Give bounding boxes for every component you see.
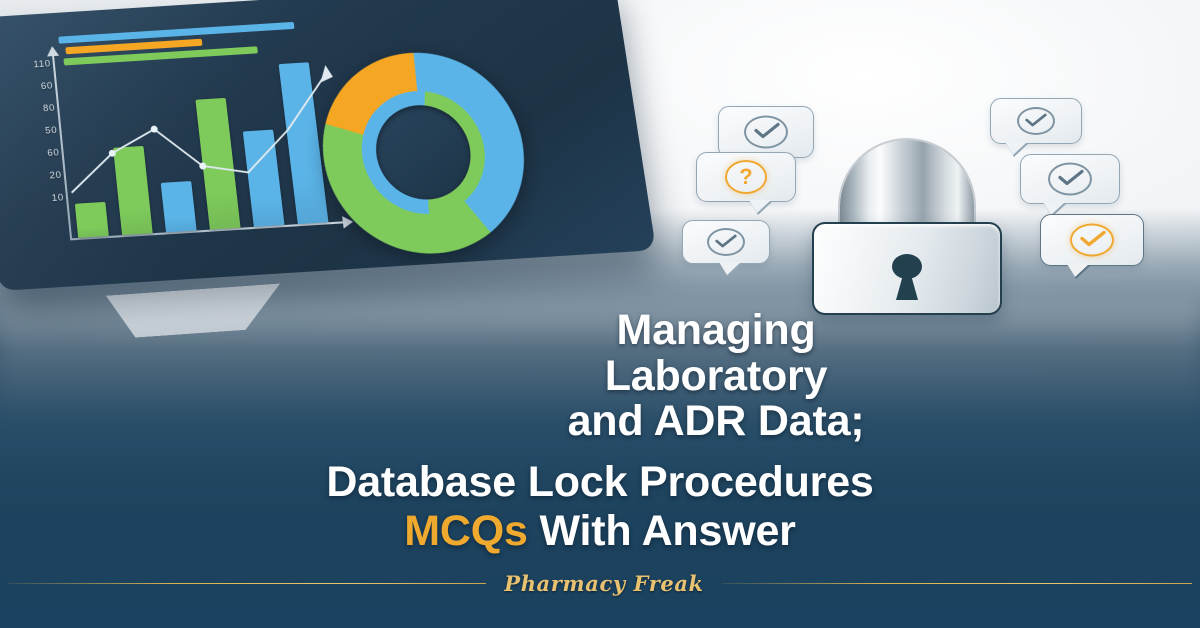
- check-glyph: [1058, 170, 1084, 186]
- title-mcqs-highlight: MCQs: [404, 507, 527, 555]
- y-axis-tick-4: 60: [17, 148, 60, 160]
- y-axis-tick-1: 60: [10, 81, 53, 93]
- y-axis-tick-3: 50: [15, 126, 58, 138]
- brand-name: Pharmacy Freak: [504, 571, 703, 596]
- bubble-tail: [1067, 264, 1089, 277]
- title-line-1: Managing: [0, 308, 1200, 354]
- title-line-3: and ADR Data;: [0, 399, 1200, 445]
- question-glyph: ?: [725, 160, 767, 194]
- bubble-check-mid-right: [1020, 154, 1120, 204]
- bubble-tail: [749, 200, 771, 213]
- padlock-body: [812, 222, 1002, 315]
- title-line-4: Database Lock Procedures: [0, 461, 1200, 504]
- padlock-scene: ?: [700, 92, 1200, 322]
- page-title: Managing Laboratory and ADR Data; Databa…: [0, 308, 1200, 553]
- y-axis-tick-2: 80: [12, 104, 55, 116]
- bubble-check-bottom-left: [682, 220, 770, 264]
- y-axis-tick-6: 10: [21, 193, 65, 205]
- title-line-5: MCQs With Answer: [0, 510, 1200, 553]
- bubble-check-top-right: [990, 98, 1082, 144]
- title-block-top: Managing Laboratory and ADR Data;: [0, 308, 1200, 445]
- bubble-tail: [719, 262, 741, 275]
- padlock: [812, 140, 1002, 315]
- trend-polyline: [62, 74, 339, 192]
- title-with-answer: With Answer: [528, 507, 796, 555]
- bubble-check-top-left: [718, 106, 814, 158]
- check-icon: [1017, 107, 1055, 135]
- check-icon: [707, 228, 745, 256]
- check-icon: [744, 116, 788, 149]
- poster-canvas: 110608050602010: [0, 0, 1200, 628]
- divider-left: [8, 583, 486, 585]
- donut-chart: [306, 40, 547, 266]
- question-icon: ?: [725, 160, 767, 194]
- bubble-check-gold-right: [1040, 214, 1144, 266]
- y-axis-tick-0: 110: [8, 59, 51, 71]
- y-axis-tick-5: 20: [19, 171, 63, 183]
- desktop-monitor: 110608050602010: [0, 18, 634, 318]
- check-glyph: [715, 234, 737, 248]
- check-glyph: [1025, 113, 1047, 127]
- title-line-2: Laboratory: [0, 354, 1200, 400]
- footer-brand-bar: Pharmacy Freak: [0, 571, 1200, 596]
- check-glyph: [1080, 231, 1106, 247]
- bar-chart: 110608050602010: [2, 19, 361, 262]
- check-icon: [1048, 163, 1092, 196]
- check-icon: [1070, 224, 1114, 257]
- check-glyph: [754, 123, 780, 139]
- monitor-screen: 110608050602010: [0, 0, 656, 291]
- bubble-question-left: ?: [696, 152, 796, 202]
- bubble-tail: [1005, 142, 1027, 155]
- divider-right: [722, 583, 1192, 585]
- keyhole-icon: [892, 254, 922, 300]
